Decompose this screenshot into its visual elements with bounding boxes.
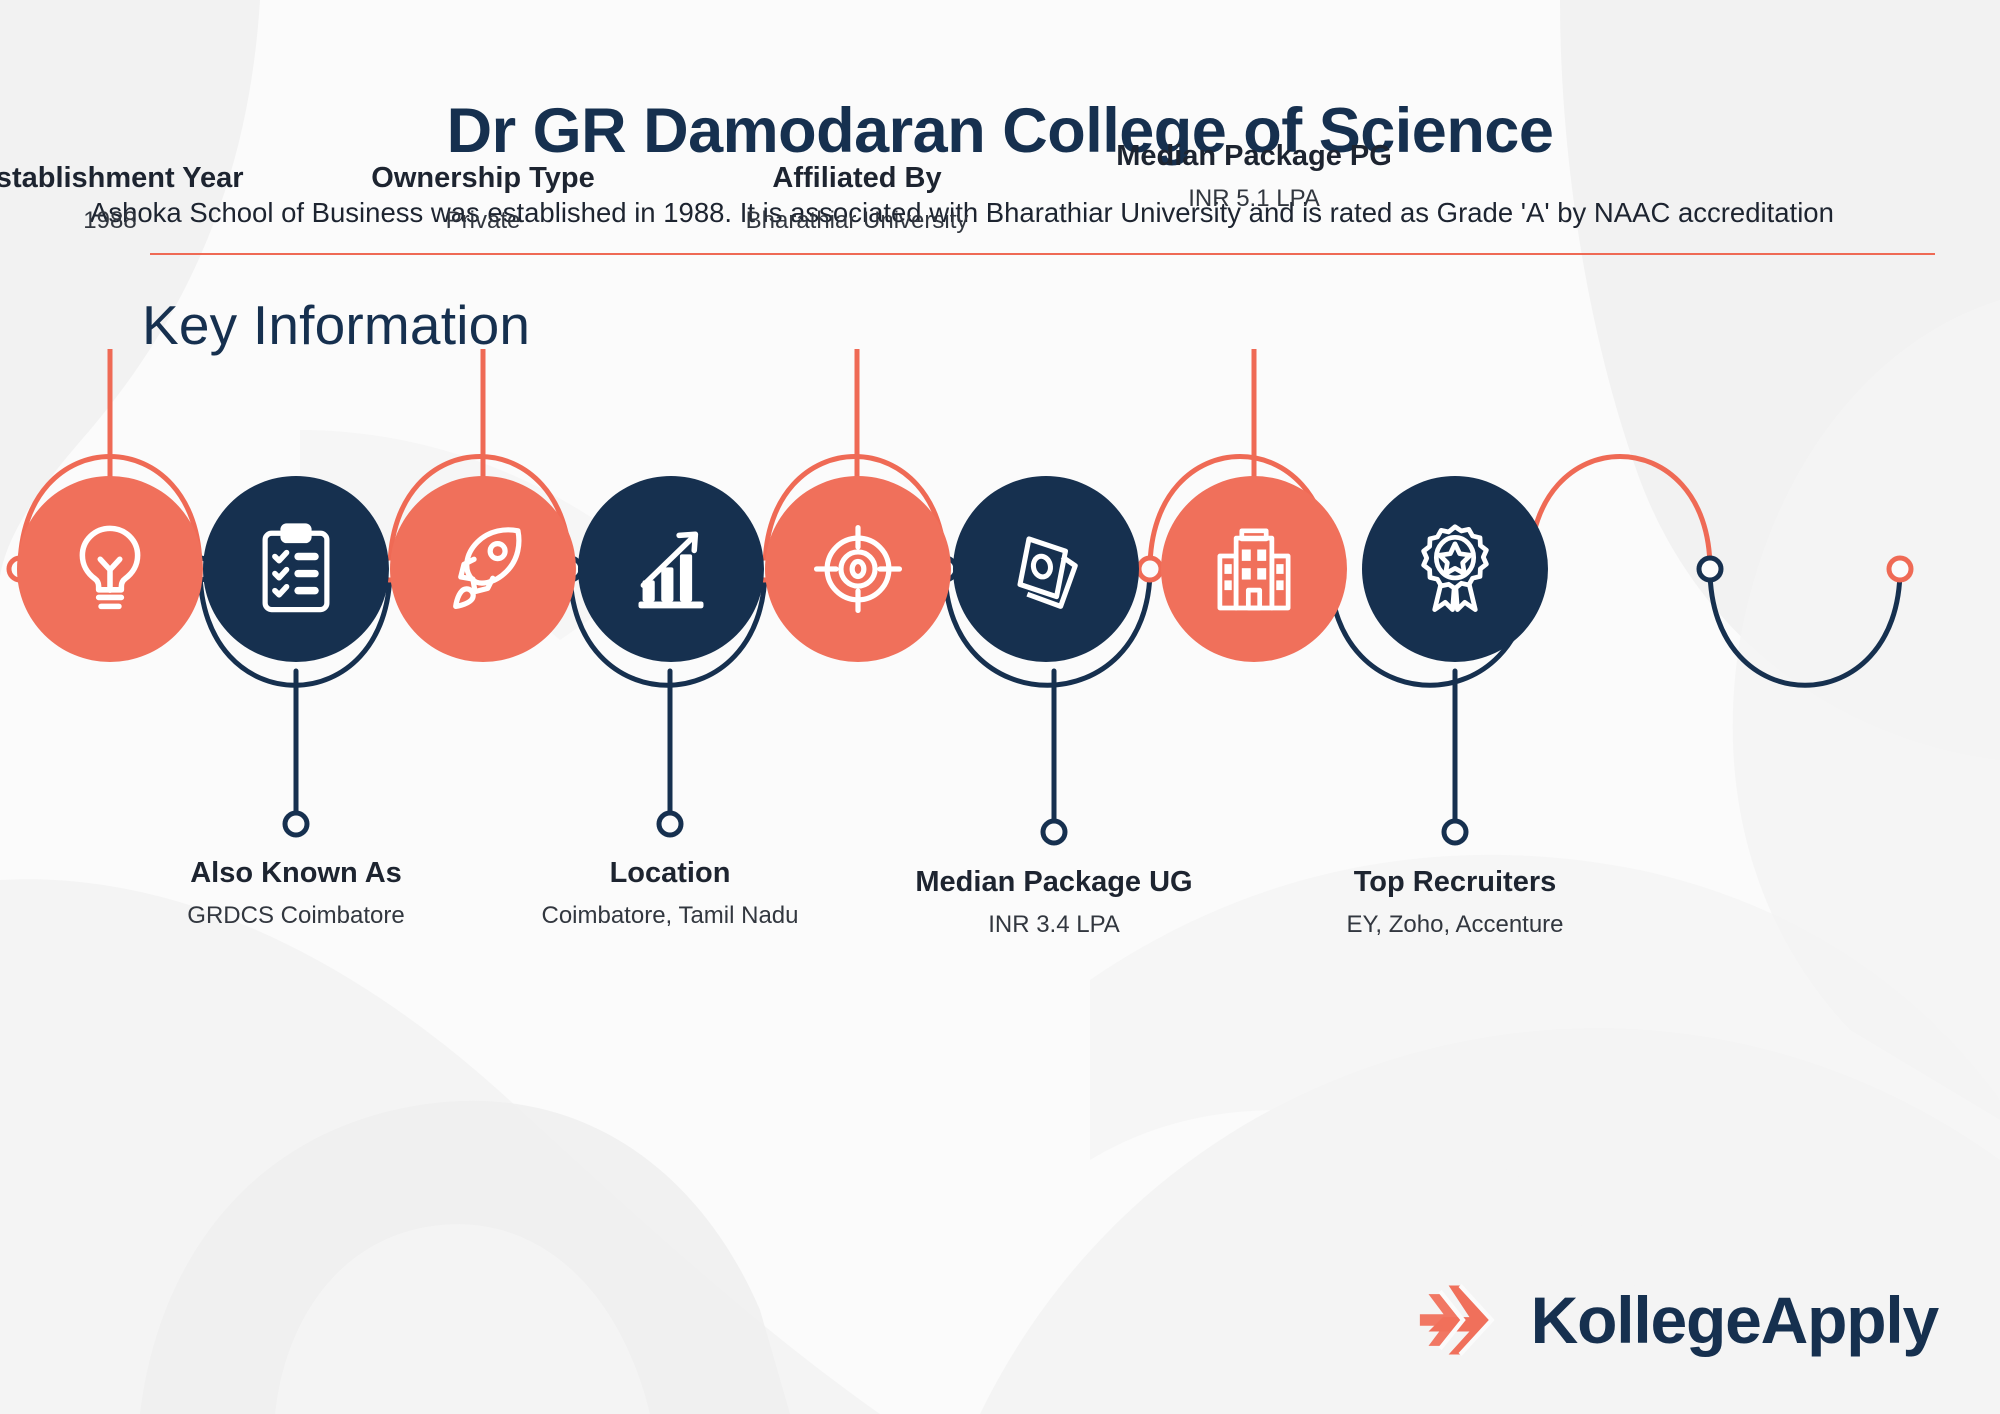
lightbulb-icon [58,517,162,621]
label-title: Affiliated By [637,162,1077,195]
label-title: Location [450,857,890,890]
node-establishment-year[interactable] [17,476,203,662]
double-chevron-icon [1417,1274,1509,1366]
key-information-timeline: Establishment Year 1988 Ownership Type P… [0,349,2000,1049]
label-title: Top Recruiters [1235,866,1675,899]
label-affiliated-by: Affiliated By Bharathiar University [637,162,1077,236]
rocket-icon [431,517,535,621]
label-value: Coimbatore, Tamil Nadu [450,902,890,931]
banknotes-icon [994,517,1098,621]
label-value: INR 3.4 LPA [834,911,1274,940]
brand-name: KollegeApply [1531,1287,1938,1353]
label-value: Bharathiar University [637,207,1077,236]
section-title: Key Information [142,293,1920,357]
building-icon [1202,517,1306,621]
header-divider [150,253,1935,255]
node-median-package-ug[interactable] [953,476,1139,662]
label-location: Location Coimbatore, Tamil Nadu [450,857,890,931]
label-median-package-pg: Median Package PG INR 5.1 LPA [1034,140,1474,214]
label-median-package-ug: Median Package UG INR 3.4 LPA [834,866,1274,940]
node-median-package-pg[interactable] [1161,476,1347,662]
connector-wave [0,349,2000,1049]
label-top-recruiters: Top Recruiters EY, Zoho, Accenture [1235,866,1675,940]
node-also-known-as[interactable] [203,476,389,662]
node-location[interactable] [578,476,764,662]
target-icon [806,517,910,621]
label-value: EY, Zoho, Accenture [1235,911,1675,940]
label-title: Median Package PG [1034,140,1474,173]
label-title: Median Package UG [834,866,1274,899]
bar-chart-growth-icon [619,517,723,621]
node-ownership-type[interactable] [390,476,576,662]
label-value: INR 5.1 LPA [1034,185,1474,214]
node-affiliated-by[interactable] [765,476,951,662]
clipboard-checklist-icon [244,517,348,621]
award-ribbon-icon [1403,517,1507,621]
node-top-recruiters[interactable] [1362,476,1548,662]
kollegeapply-logo[interactable]: KollegeApply [1417,1274,1938,1366]
page-title: Dr GR Damodaran College of Science [80,0,1920,164]
